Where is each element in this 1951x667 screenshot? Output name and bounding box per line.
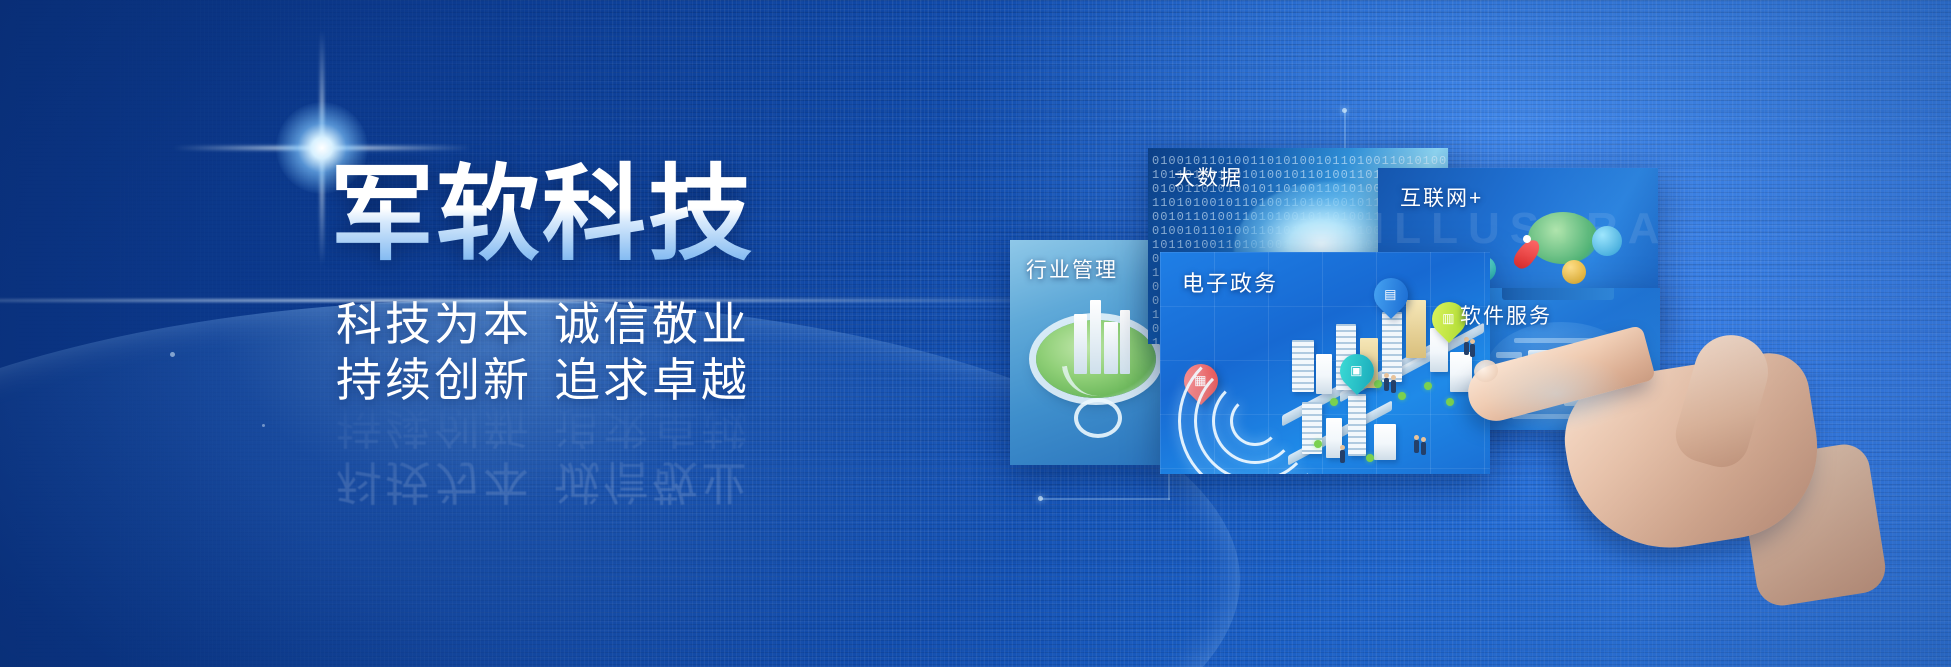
card-e-government[interactable]: ▤ ▥ ▣ ▦ 电子政务 [1160,252,1490,474]
cloud-icon [1592,226,1622,256]
form-mockup [1496,338,1626,419]
slogan-reflection-line-1: 科技为本诚信敬业 [336,454,976,510]
coin-icon [1562,260,1586,284]
slogan-block: 科技为本诚信敬业 持续创新追求卓越 [336,296,970,408]
sparkle-dot [262,424,265,427]
sparkle-dot [170,352,175,357]
slogan-reflection-1-left: 科技为本 [336,456,532,508]
rocket-icon [1506,234,1550,278]
brand-wordmark: 军软科技 [330,160,970,270]
card-industry-management-label: 行业管理 [1026,254,1118,284]
city-ring-illustration [1030,302,1162,420]
card-software-service-label: 软件服务 [1460,300,1552,330]
hero-copy: 军软科技 科技为本诚信敬业 持续创新追求卓越 [330,160,970,408]
slogan-1-left: 科技为本 [336,298,532,350]
slogan-reflection-1-right: 诚信敬业 [554,456,750,508]
card-big-data-label: 大数据 [1174,162,1243,192]
slogan-2-right: 追求卓越 [554,354,750,406]
card-e-government-label: 电子政务 [1182,266,1278,298]
slogan-1-right: 诚信敬业 [554,298,750,350]
lens-flare-star [322,148,324,150]
slogan-line-1: 科技为本诚信敬业 [336,296,970,352]
hero-banner: 军软科技 科技为本诚信敬业 持续创新追求卓越 科技为本诚信敬业 持续创新追求卓越… [0,0,1951,667]
app-header-bar [1502,288,1614,300]
isometric-smart-city: ▤ ▥ ▣ [1278,294,1490,474]
card-internet-plus-label: 互联网+ [1400,182,1483,212]
slogan-2-left: 持续创新 [336,354,532,406]
slogan-reflection: 科技为本诚信敬业 持续创新追求卓越 [336,398,976,510]
slogan-line-2: 持续创新追求卓越 [336,352,970,408]
